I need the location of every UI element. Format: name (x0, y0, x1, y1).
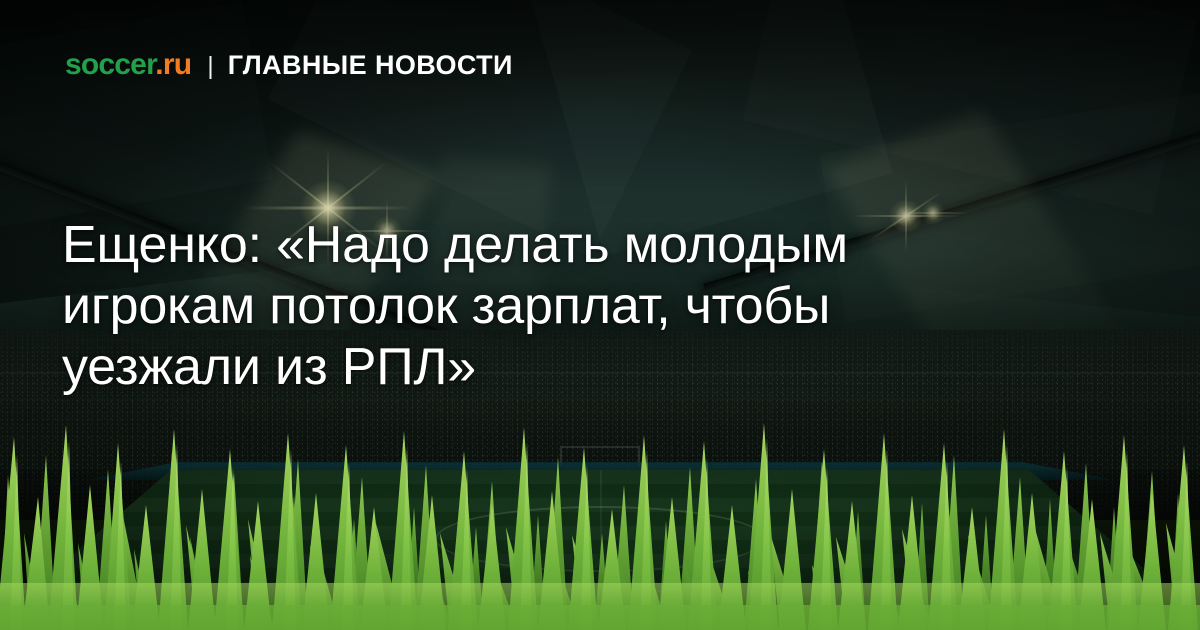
logo-soccer-text: soccer (65, 48, 155, 81)
headline-line-1: Ещенко: «Надо делать молодым (62, 215, 1042, 276)
logo-ru-text: .ru (155, 48, 191, 81)
brand-header: soccer.ru | ГЛАВНЫЕ НОВОСТИ (65, 50, 513, 80)
page-title: Ещенко: «Надо делать молодым игрокам пот… (62, 215, 1042, 398)
soccer-ru-logo[interactable]: soccer.ru (65, 50, 191, 80)
headline-line-3: уезжали из РПЛ» (62, 337, 1042, 398)
header-kicker: ГЛАВНЫЕ НОВОСТИ (228, 52, 513, 79)
card-content: soccer.ru | ГЛАВНЫЕ НОВОСТИ Ещенко: «Над… (0, 0, 1200, 630)
header-separator: | (207, 54, 214, 79)
news-share-card: soccer.ru | ГЛАВНЫЕ НОВОСТИ Ещенко: «Над… (0, 0, 1200, 630)
headline-line-2: игрокам потолок зарплат, чтобы (62, 276, 1042, 337)
